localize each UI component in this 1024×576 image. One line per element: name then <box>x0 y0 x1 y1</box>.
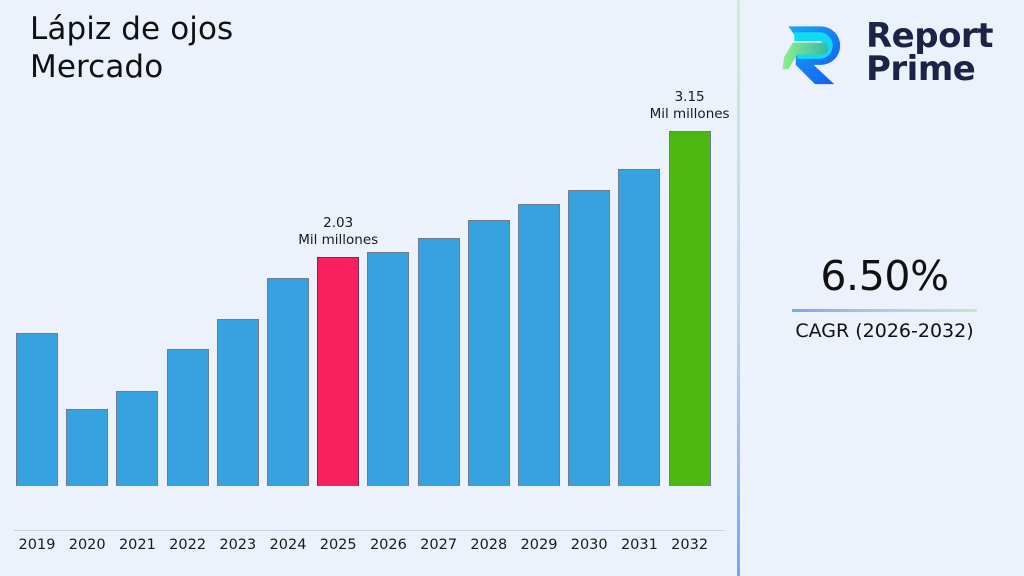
bar-2028[interactable] <box>468 220 510 486</box>
logo-word-prime: Prime <box>866 53 993 86</box>
x-axis-labels: 2019202020212022202320242025202620272028… <box>0 533 737 563</box>
chart-plot-area: 2.03Mil millones3.15Mil millones <box>0 0 737 531</box>
panel-divider <box>737 0 740 576</box>
report-prime-logo-mark-icon <box>778 16 852 90</box>
logo-wordmark: Report Prime <box>866 20 993 87</box>
value-label-unit: Mil millones <box>630 106 750 123</box>
value-label-2032: 3.15Mil millones <box>630 89 750 123</box>
value-label-number: 2.03 <box>278 215 398 232</box>
value-label-2025: 2.03Mil millones <box>278 215 398 249</box>
x-tick-2032: 2032 <box>660 537 720 553</box>
bar-2030[interactable] <box>568 190 610 486</box>
bar-2022[interactable] <box>167 349 209 486</box>
bar-2023[interactable] <box>217 319 259 486</box>
bar-2021[interactable] <box>116 391 158 486</box>
bar-2029[interactable] <box>518 204 560 486</box>
cagr-divider-rule <box>792 309 977 312</box>
bar-2031[interactable] <box>618 169 660 486</box>
brand-logo: Report Prime <box>778 12 1010 94</box>
bar-2019[interactable] <box>16 333 58 486</box>
cagr-value: 6.50% <box>745 250 1024 302</box>
bar-chart: 2.03Mil millones3.15Mil millones 2019202… <box>0 0 737 576</box>
logo-word-report: Report <box>866 20 993 53</box>
infographic-root: Lápiz de ojos Mercado Report Prime <box>0 0 1024 576</box>
bar-2020[interactable] <box>66 409 108 486</box>
bar-2024[interactable] <box>267 278 309 486</box>
bar-2026[interactable] <box>367 252 409 486</box>
cagr-caption: CAGR (2026-2032) <box>745 318 1024 344</box>
x-axis-line <box>14 530 724 531</box>
bar-2032[interactable] <box>669 131 711 486</box>
bar-2027[interactable] <box>418 238 460 486</box>
value-label-unit: Mil millones <box>278 232 398 249</box>
value-label-number: 3.15 <box>630 89 750 106</box>
cagr-panel: 6.50% CAGR (2026-2032) <box>745 250 1024 344</box>
bar-2025[interactable] <box>317 257 359 486</box>
